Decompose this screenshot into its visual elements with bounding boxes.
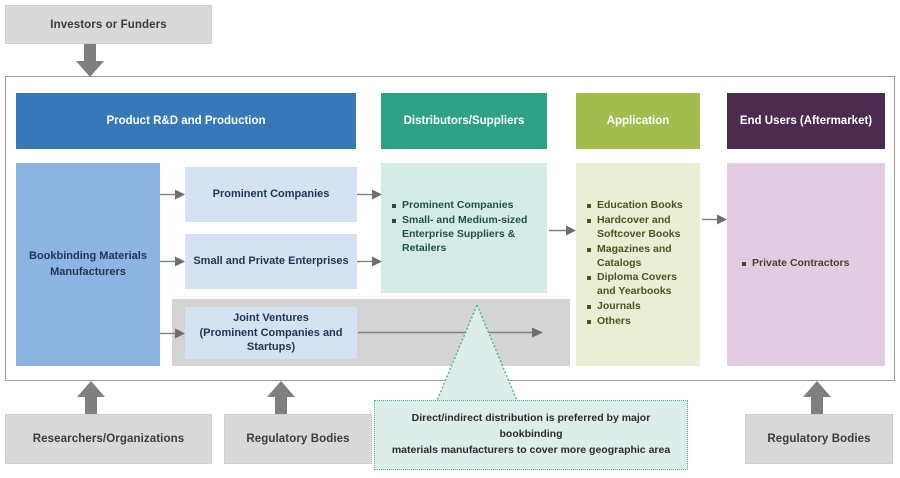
- sub-box-small-private-enterprises: Small and Private Enterprises: [185, 234, 357, 289]
- list-item: Journals: [586, 300, 694, 314]
- regulatory-bodies-right-box: Regulatory Bodies: [745, 414, 893, 464]
- arrow-up-regulatory-right-icon: [800, 380, 834, 414]
- column-header-application: Application: [576, 93, 700, 149]
- regulatory-bodies-left-label: Regulatory Bodies: [246, 433, 349, 445]
- joint-ventures-line2: (Prominent Companies and: [199, 326, 342, 341]
- arrow-up-researchers-icon: [74, 380, 108, 414]
- sub-box-prominent-companies-label: Prominent Companies: [213, 187, 330, 202]
- callout-line1: Direct/indirect distribution is preferre…: [389, 411, 673, 443]
- column-header-production: Product R&D and Production: [16, 93, 356, 149]
- arrow-down-investors-icon: [73, 44, 107, 78]
- list-item: Magazines and Catalogs: [586, 243, 694, 271]
- arrow-right-small-to-distributors-icon: [357, 255, 383, 268]
- sub-box-joint-ventures: Joint Ventures (Prominent Companies and …: [185, 307, 357, 359]
- application-list: Education Books Hardcover and Softcover …: [576, 199, 700, 331]
- list-item: Hardcover and Softcover Books: [586, 214, 694, 242]
- list-item: Diploma Covers and Yearbooks: [586, 271, 694, 299]
- list-item: Others: [586, 315, 694, 329]
- column-header-end-users: End Users (Aftermarket): [727, 93, 885, 149]
- investors-or-funders-box: Investors or Funders: [5, 5, 212, 44]
- manufacturers-line1: Bookbinding Materials: [29, 249, 147, 264]
- researchers-organizations-box: Researchers/Organizations: [5, 414, 212, 464]
- sub-box-small-private-enterprises-label: Small and Private Enterprises: [193, 254, 348, 269]
- arrow-right-to-small-enterprises-icon: [160, 255, 186, 268]
- list-item: Education Books: [586, 199, 694, 213]
- manufacturers-line2: Manufacturers: [29, 265, 147, 280]
- value-chain-diagram: Investors or Funders Product R&D and Pro…: [0, 0, 900, 478]
- list-item: Small- and Medium-sized Enterprise Suppl…: [391, 214, 539, 256]
- arrow-right-distributors-to-application-icon: [549, 224, 577, 237]
- researchers-organizations-label: Researchers/Organizations: [33, 433, 184, 445]
- list-item: Private Contractors: [741, 257, 849, 271]
- callout-tail-icon: [420, 305, 540, 405]
- distributors-list: Prominent Companies Small- and Medium-si…: [381, 199, 547, 257]
- column-header-application-label: Application: [607, 114, 670, 128]
- column-header-production-label: Product R&D and Production: [106, 114, 265, 128]
- column-header-distributors-label: Distributors/Suppliers: [404, 114, 525, 128]
- investors-or-funders-label: Investors or Funders: [50, 19, 166, 31]
- arrow-up-regulatory-left-icon: [264, 380, 298, 414]
- application-body: Education Books Hardcover and Softcover …: [576, 163, 700, 366]
- callout-box: Direct/indirect distribution is preferre…: [374, 400, 688, 470]
- sub-box-prominent-companies: Prominent Companies: [185, 167, 357, 222]
- end-users-list: Private Contractors: [727, 257, 857, 272]
- joint-ventures-line3: Startups): [199, 340, 342, 355]
- distributors-body: Prominent Companies Small- and Medium-si…: [381, 163, 547, 293]
- joint-ventures-line1: Joint Ventures: [199, 311, 342, 326]
- regulatory-bodies-left-box: Regulatory Bodies: [224, 414, 372, 464]
- column-header-end-users-label: End Users (Aftermarket): [740, 114, 872, 128]
- arrow-right-to-joint-ventures-icon: [160, 327, 186, 340]
- regulatory-bodies-right-label: Regulatory Bodies: [767, 433, 870, 445]
- arrow-right-to-prominent-companies-icon: [160, 188, 186, 201]
- callout-line2: materials manufacturers to cover more ge…: [389, 443, 673, 459]
- arrow-right-application-to-end-users-icon: [702, 213, 728, 226]
- column-header-distributors: Distributors/Suppliers: [381, 93, 547, 149]
- arrow-right-prominent-to-distributors-icon: [357, 188, 383, 201]
- list-item: Prominent Companies: [391, 199, 539, 213]
- manufacturers-box: Bookbinding Materials Manufacturers: [16, 163, 160, 366]
- end-users-body: Private Contractors: [727, 163, 885, 366]
